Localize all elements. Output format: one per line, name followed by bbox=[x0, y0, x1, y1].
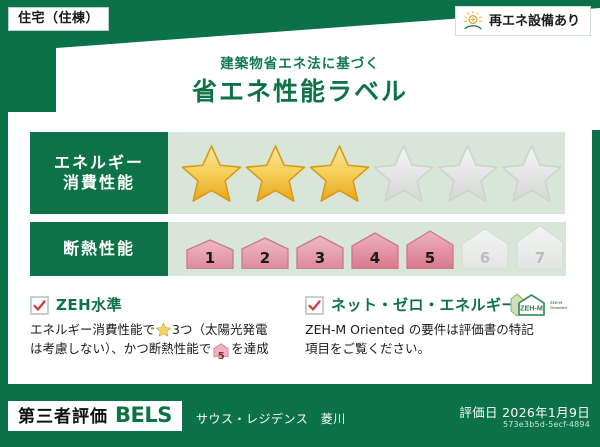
insulation-performance-label-box: 断熱性能 bbox=[30, 222, 168, 276]
net-zero-body-line1: ZEH-M Oriented の要件は評価書の特記 bbox=[305, 320, 575, 339]
star-filled-icon bbox=[180, 143, 243, 203]
insulation-badge-number: 2 bbox=[239, 251, 291, 266]
energy-label-line1: エネルギー bbox=[54, 153, 144, 173]
zeh-body-part1: エネルギー消費性能で bbox=[30, 322, 155, 337]
insulation-badge-number: 5 bbox=[404, 251, 456, 266]
insulation-badge-inline-number: 5 bbox=[213, 352, 229, 362]
net-zero-energy-header: ネット・ゼロ・エネルギー ZEH-M ZEH-M Oriented bbox=[305, 296, 575, 315]
zeh-standard-body: エネルギー消費性能で3つ（太陽光発電 は考慮しない）、かつ断熱性能で5を達成 bbox=[30, 320, 300, 363]
zehm-caption-line2: Oriented bbox=[550, 306, 567, 310]
checkmark-icon bbox=[305, 296, 324, 315]
zeh-standard-title: ZEH水準 bbox=[56, 298, 122, 313]
zehm-house-icon: ZEH-M bbox=[508, 292, 548, 319]
zeh-standard-header: ZEH水準 bbox=[30, 296, 300, 315]
label-title: 省エネ性能ラベル bbox=[0, 72, 600, 108]
insulation-badge: 2 bbox=[239, 236, 291, 269]
energy-star-rating bbox=[168, 132, 565, 214]
bels-jp-label: 第三者評価 bbox=[18, 409, 108, 426]
net-zero-energy-title: ネット・ゼロ・エネルギー bbox=[331, 298, 517, 313]
star-filled-icon bbox=[244, 143, 307, 203]
zehm-logo-text: ZEH-M bbox=[520, 304, 543, 313]
insulation-badge: 1 bbox=[184, 238, 236, 269]
bels-certification-badge: 第三者評価 BELS bbox=[8, 401, 182, 431]
insulation-badge-number: 7 bbox=[514, 251, 566, 266]
energy-performance-label-box: エネルギー 消費性能 bbox=[30, 132, 168, 214]
star-filled-icon bbox=[308, 143, 371, 203]
zeh-body-star-count: 3つ（太陽光発電 bbox=[172, 322, 267, 337]
net-zero-energy-section: ネット・ゼロ・エネルギー ZEH-M ZEH-M Oriented ZEH-M … bbox=[305, 296, 575, 359]
evaluation-date: 評価日 2026年1月9日 bbox=[459, 402, 590, 421]
building-name: サウス・レジデンス 菱川 bbox=[196, 410, 346, 427]
bels-en-label: BELS bbox=[115, 405, 172, 426]
net-zero-body-line2: 項目をご覧ください。 bbox=[305, 339, 575, 358]
zeh-standard-section: ZEH水準 エネルギー消費性能で3つ（太陽光発電 は考慮しない）、かつ断熱性能で… bbox=[30, 296, 300, 363]
insulation-badge: 4 bbox=[349, 231, 401, 269]
star-inline-icon bbox=[156, 322, 171, 337]
insulation-badge: 6 bbox=[459, 227, 511, 269]
star-empty-icon bbox=[500, 143, 563, 203]
insulation-badge-number: 4 bbox=[349, 251, 401, 266]
renewable-energy-label: 再エネ設備あり bbox=[489, 15, 580, 28]
insulation-badge-inline: 5 bbox=[213, 343, 229, 362]
house-type-tag: 住宅（住棟） bbox=[8, 7, 109, 31]
zeh-body-part3: を達成 bbox=[231, 341, 269, 356]
insulation-performance-row: 断熱性能 1 2 3 bbox=[30, 222, 565, 276]
insulation-badge-number: 6 bbox=[459, 251, 511, 266]
footer-band: 第三者評価 BELS サウス・レジデンス 菱川 評価日 2026年1月9日 57… bbox=[0, 390, 600, 447]
star-empty-icon bbox=[436, 143, 499, 203]
insulation-badge: 3 bbox=[294, 234, 346, 269]
zehm-logo-caption: ZEH-M Oriented bbox=[550, 301, 567, 310]
insulation-badge-number: 3 bbox=[294, 251, 346, 266]
insulation-badge-number: 1 bbox=[184, 251, 236, 266]
net-zero-energy-body: ZEH-M Oriented の要件は評価書の特記 項目をご覧ください。 bbox=[305, 320, 575, 359]
renewable-energy-tag: 再エネ設備あり bbox=[455, 6, 591, 36]
insulation-badge: 7 bbox=[514, 224, 566, 269]
zeh-body-part2: は考慮しない）、かつ断熱性能で bbox=[30, 341, 211, 356]
star-empty-icon bbox=[372, 143, 435, 203]
insulation-grade-scale: 1 2 3 4 bbox=[168, 222, 566, 276]
energy-performance-row: エネルギー 消費性能 bbox=[30, 132, 565, 214]
insulation-badge: 5 bbox=[404, 229, 456, 269]
label-subtitle: 建築物省エネ法に基づく bbox=[0, 52, 600, 72]
insulation-label-line1: 断熱性能 bbox=[63, 239, 135, 259]
energy-performance-label: 住宅（住棟） 再エネ設備あり 建築物省エネ法に基づく 省エネ性能ラベル エネルギ… bbox=[0, 0, 600, 447]
sun-icon bbox=[462, 10, 484, 32]
checkmark-icon bbox=[30, 296, 49, 315]
zehm-logo: ZEH-M ZEH-M Oriented bbox=[508, 292, 567, 319]
energy-label-line2: 消費性能 bbox=[63, 173, 135, 193]
evaluation-id: 573e3b5d-5ecf-4894 bbox=[503, 420, 590, 429]
